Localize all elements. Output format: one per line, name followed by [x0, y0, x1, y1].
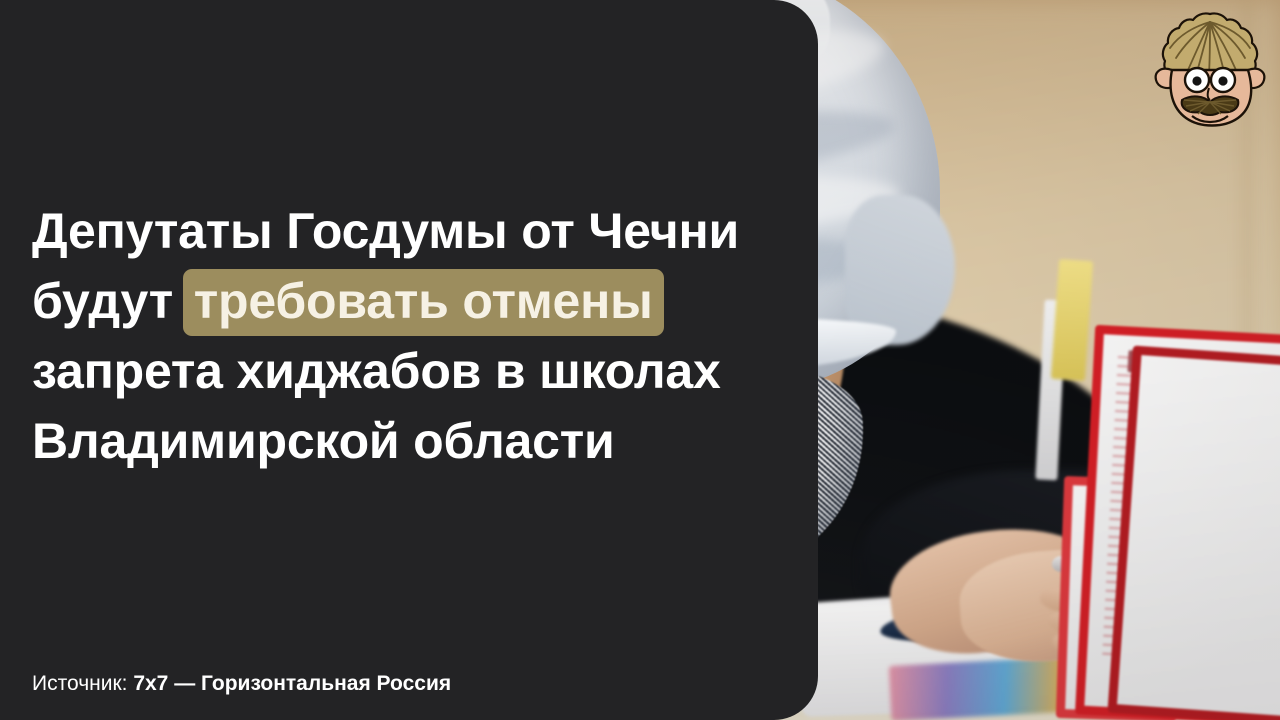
cartoon-face-icon — [1152, 8, 1268, 132]
headline-line-3: запрета хиджабов в школах — [32, 336, 802, 406]
headline-line-2-prefix: будут — [32, 273, 173, 329]
source-label: Источник: — [32, 672, 127, 695]
cartoon-face-logo[interactable] — [1152, 8, 1268, 132]
headline-line-1: Депутаты Госдумы от Чечни — [32, 196, 802, 266]
headline: Депутаты Госдумы от Чечни будут требоват… — [32, 196, 802, 476]
display-folder — [1107, 345, 1280, 720]
source-name: 7x7 — Горизонтальная Россия — [133, 672, 451, 695]
news-card: Депутаты Госдумы от Чечни будут требоват… — [0, 0, 1280, 720]
headline-line-4: Владимирской области — [32, 406, 802, 476]
source-attribution: Источник: 7x7 — Горизонтальная Россия — [32, 672, 451, 696]
headline-line-2: будут требовать отмены — [32, 266, 802, 336]
headline-highlight: требовать отмены — [183, 269, 664, 336]
